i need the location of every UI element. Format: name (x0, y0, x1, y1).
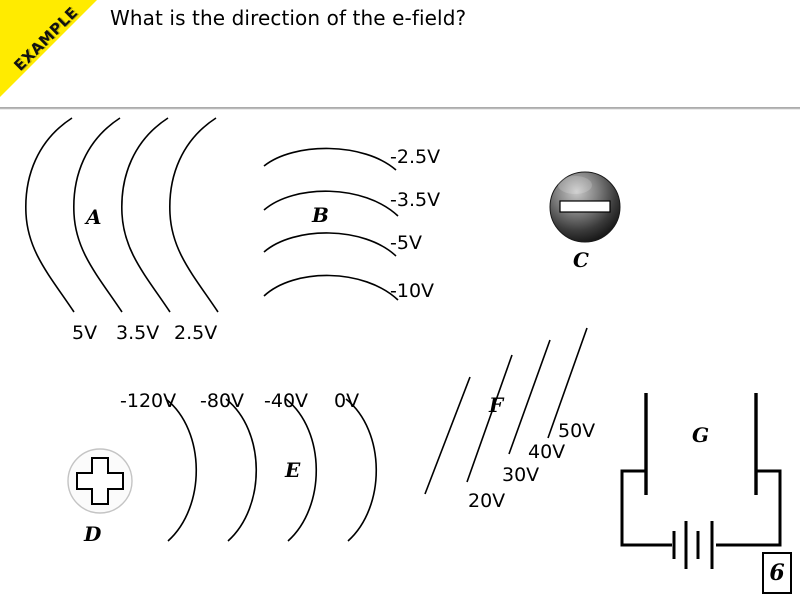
page-title: What is the direction of the e-field? (110, 6, 466, 30)
figure-e-label-2: -40V (264, 390, 308, 412)
figure-b-label-2: -5V (390, 232, 422, 254)
figure-e-label-1: -80V (200, 390, 244, 412)
figure-f-label-3: 50V (558, 420, 595, 442)
figure-b-label-3: -10V (390, 280, 434, 302)
figure-a-label-2: 2.5V (174, 322, 217, 344)
figure-f-letter: F (489, 393, 503, 417)
minus-sign-glyph (560, 201, 610, 212)
slide-number-badge: 6 (762, 552, 792, 594)
figure-a-label-0: 5V (72, 322, 97, 344)
figure-c-letter: C (573, 248, 589, 272)
example-ribbon: EXAMPLE (0, 0, 100, 100)
figure-c-diagram (543, 165, 627, 249)
figure-e-letter: E (285, 458, 300, 482)
figure-g-diagram (620, 385, 790, 575)
figure-d-diagram (64, 445, 136, 517)
figure-a-diagram (10, 110, 260, 325)
figure-a-label-1: 3.5V (116, 322, 159, 344)
figure-b-label-1: -3.5V (390, 189, 440, 211)
figure-b-letter: B (312, 203, 329, 227)
figure-f-label-2: 40V (528, 441, 565, 463)
figure-b-label-0: -2.5V (390, 146, 440, 168)
circuit-wire-right (716, 471, 780, 545)
figure-g-letter: G (692, 423, 709, 447)
figure-e-label-3: 0V (334, 390, 359, 412)
figure-b-diagram (260, 140, 410, 300)
battery-symbol (674, 521, 712, 569)
figure-e-label-0: -120V (120, 390, 176, 412)
figure-area: A 5V 3.5V 2.5V B -2.5V -3.5V -5V -10V (0, 110, 800, 600)
slide-canvas: What is the direction of the e-field? EX… (0, 0, 800, 600)
figure-a-letter: A (86, 205, 102, 229)
figure-d-letter: D (84, 522, 101, 546)
figure-f-diagram (415, 332, 570, 502)
slide-header: What is the direction of the e-field? (0, 0, 800, 110)
figure-f-label-1: 30V (502, 464, 539, 486)
figure-f-label-0: 20V (468, 490, 505, 512)
figure-e-diagram (150, 395, 400, 545)
